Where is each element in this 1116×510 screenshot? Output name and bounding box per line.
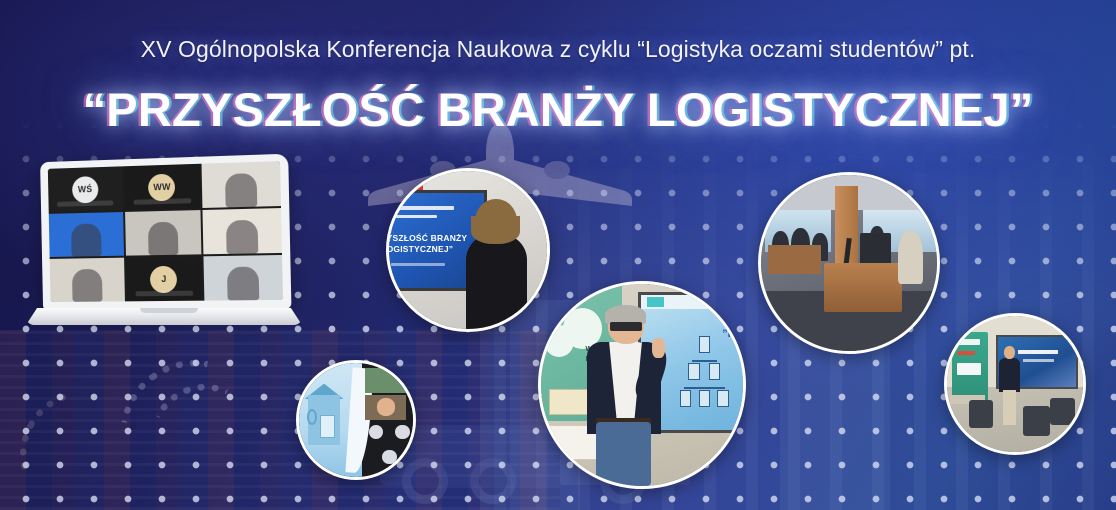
tile-name-bar <box>135 291 193 297</box>
participant-video <box>148 222 179 255</box>
chair <box>1023 406 1050 436</box>
truck-wheel <box>470 458 516 504</box>
participant-avatar: J <box>150 265 177 292</box>
participant-avatar <box>369 425 384 440</box>
video-conference-laptop: WŚWWJ <box>38 158 300 343</box>
city-blocks-texture <box>0 330 560 510</box>
participant-video <box>225 174 257 208</box>
slide-title-line-2: OGISTYCZNEJ” <box>387 244 454 254</box>
banner-line <box>957 339 980 345</box>
video-tile <box>202 161 281 208</box>
rollup-banner <box>952 332 987 403</box>
video-tile <box>50 258 125 302</box>
slide-accent-bar <box>389 183 423 191</box>
diagram-box <box>709 363 720 381</box>
diagram-connector <box>684 387 725 389</box>
photo-content <box>761 175 937 351</box>
banner-block <box>957 363 982 374</box>
video-tile <box>49 212 124 257</box>
house-window <box>320 415 335 438</box>
presenter-suit <box>999 358 1021 393</box>
diagram-box <box>688 363 699 381</box>
presenter-figure <box>999 346 1021 425</box>
laptop-hinge-notch <box>140 308 198 313</box>
chair <box>969 400 993 427</box>
slide-title-line-1: YSZŁOŚĆ BRANŻY <box>387 233 468 243</box>
photo-office-workroom <box>758 172 940 354</box>
presenter-pants <box>1003 390 1017 425</box>
chair <box>1050 398 1074 425</box>
participant-face <box>377 398 395 416</box>
presenter-hair <box>605 305 646 325</box>
photo-content <box>299 363 413 477</box>
slide-text-line <box>391 206 454 210</box>
screen-title-line <box>1018 350 1058 354</box>
desk-back <box>768 245 821 273</box>
screen-subtitle-line <box>1023 359 1054 362</box>
tile-name-bar <box>57 200 113 206</box>
diagram-box <box>717 390 728 408</box>
seated-person <box>898 231 923 284</box>
video-tile: WŚ <box>48 166 123 212</box>
gear-arc <box>91 331 300 510</box>
photo-speaker-woman: YSZŁOŚĆ BRANŻY OGISTYCZNEJ” <box>386 168 550 332</box>
conference-main-title: “PRZYSZŁOŚĆ BRANŻY LOGISTYCZNEJ” <box>0 82 1116 137</box>
diagram-connector <box>692 360 717 362</box>
laptop-lid: WŚWWJ <box>40 154 291 311</box>
participant-avatar: WW <box>148 173 175 201</box>
tile-name-bar <box>133 198 191 205</box>
presenter-torso <box>466 234 527 332</box>
desk-front <box>824 263 901 312</box>
participant-tile <box>365 395 406 420</box>
photo-content <box>947 316 1083 452</box>
photo-speaker-man: WŁ NA ”P <box>538 281 746 489</box>
board-tab <box>647 297 663 306</box>
dotted-gear-arcs <box>0 350 330 510</box>
presenter-figure <box>581 308 670 486</box>
diagram-box <box>699 390 710 408</box>
video-tile: J <box>126 256 203 301</box>
gear-arc <box>135 369 276 510</box>
video-tile: WW <box>124 164 201 210</box>
cloud-shape <box>544 325 574 357</box>
participant-avatar: WŚ <box>72 176 99 203</box>
diagram-box <box>680 390 691 408</box>
presenter-hair <box>475 199 517 243</box>
house-circle-detail <box>307 409 317 425</box>
participant-tile <box>365 368 406 393</box>
video-tile <box>203 208 282 254</box>
participant-avatar <box>382 450 397 465</box>
banner-accent <box>957 351 975 355</box>
board-label: ”P <box>722 328 735 340</box>
photo-online-class <box>296 360 416 480</box>
presenter-jeans <box>596 422 651 486</box>
presenter-figure <box>462 203 535 332</box>
photo-lecture-hall <box>944 313 1086 455</box>
participant-video <box>227 267 259 300</box>
participant-video <box>226 220 258 254</box>
diagram-box <box>699 336 710 354</box>
presenter-glasses <box>610 322 642 331</box>
participant-video <box>71 224 101 257</box>
photo-content: WŁ NA ”P <box>541 284 743 486</box>
slide-text-line <box>391 263 446 266</box>
laptop-screen: WŚWWJ <box>48 161 283 302</box>
conference-subtitle: XV Ogólnopolska Konferencja Naukowa z cy… <box>0 36 1116 63</box>
participant-avatar <box>395 425 410 440</box>
slide-text-line <box>391 215 438 218</box>
gear-arc <box>0 366 174 510</box>
monitor <box>860 233 892 266</box>
presenter-hand <box>652 338 664 358</box>
video-tile <box>125 210 202 256</box>
photo-content: YSZŁOŚĆ BRANŻY OGISTYCZNEJ” <box>389 171 547 329</box>
participant-video <box>72 269 102 301</box>
video-tile <box>204 255 283 301</box>
conference-banner: XV Ogólnopolska Konferencja Naukowa z cy… <box>0 0 1116 510</box>
